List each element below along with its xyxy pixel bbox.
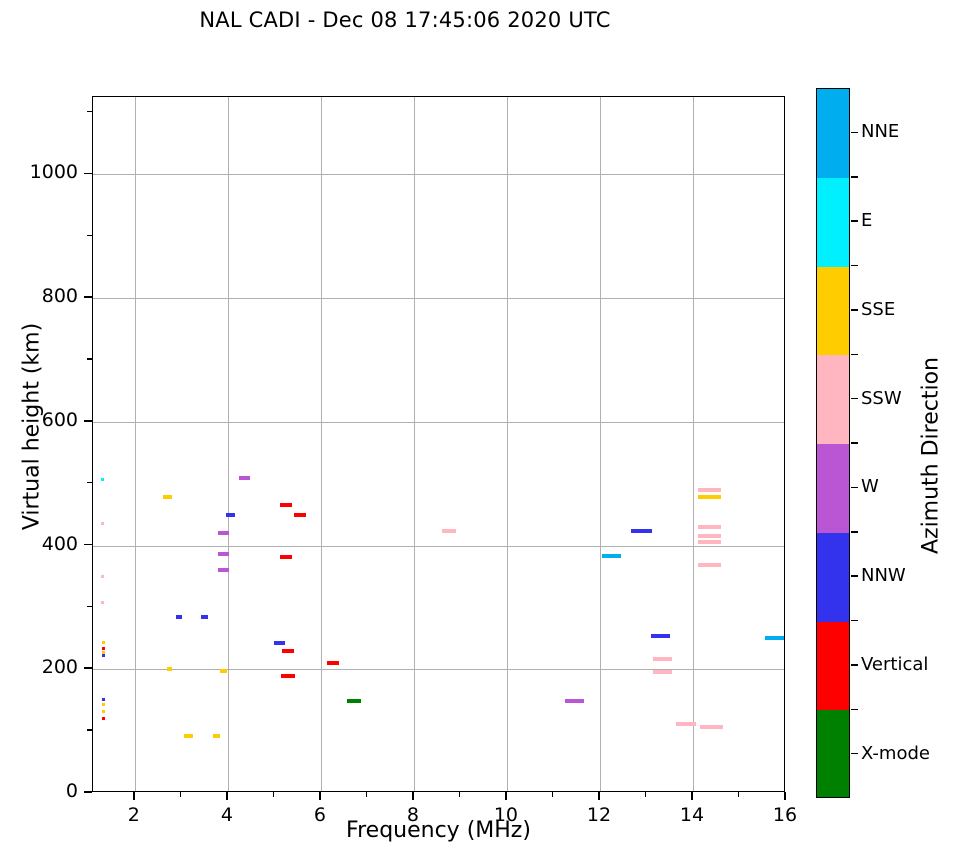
data-mark-nnw [176,615,183,619]
colorbar-band-sse [817,267,849,356]
colorbar-label-e: E [861,210,872,231]
y-tick-minor [87,358,92,359]
page-title: NAL CADI - Dec 08 17:45:06 2020 UTC [0,8,810,32]
x-tick [319,792,321,800]
colorbar-band-x-mode [817,710,849,798]
data-mark-vertical [280,555,292,559]
colorbar-boundary-tick [851,442,858,444]
data-mark-sse [213,734,220,738]
y-tick [84,420,92,422]
data-mark-ssw [442,529,456,533]
data-mark-ssw [653,670,672,674]
colorbar-band-vertical [817,622,849,711]
ionogram-figure: NAL CADI - Dec 08 17:45:06 2020 UTC 0200… [0,0,958,857]
data-mark-nnw [631,529,652,533]
y-tick-minor [87,482,92,483]
colorbar-tick [851,487,858,489]
data-mark-sse [167,667,172,671]
colorbar-boundary-tick [851,176,858,178]
x-tick [412,792,414,800]
data-mark-vertical [281,674,295,678]
x-tick-minor [180,792,181,797]
data-mark-w [218,568,229,572]
data-mark-ssw [698,525,721,529]
data-mark-ssw [676,722,696,726]
colorbar-tick [851,398,858,400]
colorbar [816,88,850,798]
colorbar-tick [851,664,858,666]
data-mark-ssw [698,540,721,544]
data-mark-nnw [102,698,105,701]
data-mark-sse [184,734,192,738]
colorbar-label-sse: SSE [861,299,895,320]
data-mark-ssw [698,534,721,538]
data-mark-vertical [282,649,294,653]
colorbar-label-ssw: SSW [861,388,902,409]
data-mark-vertical [294,513,306,517]
colorbar-band-w [817,444,849,533]
data-mark-vertical [280,503,292,507]
y-tick [84,296,92,298]
x-axis-label: Frequency (MHz) [92,818,785,843]
data-mark-w [565,699,585,703]
data-mark-vertical [102,647,105,650]
data-mark-nne [765,636,784,640]
y-tick-minor [87,111,92,112]
colorbar-tick [851,753,858,755]
data-mark-w [218,531,229,535]
data-mark-ssw [698,563,721,567]
data-mark-vertical [327,661,339,665]
data-mark-nne [602,554,622,558]
data-mark-sse [698,495,721,499]
colorbar-label-nne: NNE [861,121,899,142]
plot-area [92,96,785,792]
y-axis-label: Virtual height (km) [20,79,45,775]
data-mark-nnw [201,615,208,619]
x-tick [226,792,228,800]
y-tick [84,173,92,175]
data-mark-nnw [102,654,105,657]
colorbar-boundary-tick [851,620,858,622]
colorbar-tick [851,575,858,577]
colorbar-label-w: W [861,476,879,497]
data-mark-e [101,478,104,481]
data-mark-ssw [101,522,104,525]
data-mark-sse [102,641,105,644]
colorbar-tick [851,220,858,222]
x-tick-minor [459,792,460,797]
x-tick [598,792,600,800]
colorbar-band-ssw [817,355,849,444]
data-mark-x-mode [347,699,361,703]
data-mark-nnw [274,641,285,645]
colorbar-band-e [817,178,849,267]
data-mark-ssw [698,488,721,492]
y-tick-label: 0 [2,780,78,802]
data-mark-w [239,476,250,480]
data-mark-sse [220,669,227,673]
data-mark-ssw [700,725,723,729]
data-mark-w [218,552,229,556]
x-tick [133,792,135,800]
data-mark-nnw [226,513,235,517]
data-layer [93,97,784,791]
y-tick-minor [87,729,92,730]
x-tick-minor [273,792,274,797]
data-mark-sse [163,495,171,499]
data-mark-ssw [101,601,104,604]
x-tick [784,792,786,800]
colorbar-boundary-tick [851,265,858,267]
y-tick [84,791,92,793]
y-tick [84,544,92,546]
x-tick-minor [552,792,553,797]
data-mark-nnw [651,634,671,638]
y-tick [84,667,92,669]
colorbar-tick [851,132,858,134]
colorbar-label-nnw: NNW [861,565,906,586]
data-mark-ssw [101,575,104,578]
colorbar-band-nnw [817,533,849,622]
x-tick [505,792,507,800]
colorbar-boundary-tick [851,531,858,533]
data-mark-ssw [653,657,672,661]
x-tick-minor [645,792,646,797]
data-mark-vertical [102,717,105,720]
x-tick-minor [366,792,367,797]
colorbar-boundary-tick [851,709,858,711]
x-tick [691,792,693,800]
y-tick-minor [87,235,92,236]
colorbar-title: Azimuth Direction [919,101,944,811]
colorbar-band-nne [817,89,849,178]
data-mark-sse [102,710,105,713]
data-mark-sse [102,703,105,706]
x-tick-minor [738,792,739,797]
colorbar-tick [851,309,858,311]
colorbar-boundary-tick [851,354,858,356]
y-tick-minor [87,606,92,607]
